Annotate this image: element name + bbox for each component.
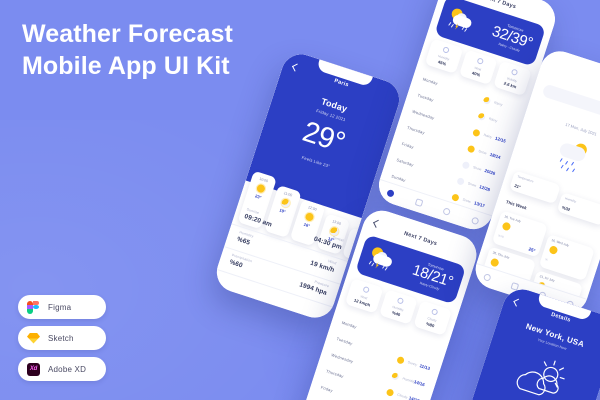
day-status: Sunny (407, 360, 417, 367)
day-value: 20/26 (484, 168, 496, 176)
day-value: 11/13 (419, 363, 431, 371)
phone-notch (574, 56, 600, 83)
sun-icon (501, 221, 511, 231)
sun-icon (467, 144, 476, 153)
sun-icon (451, 193, 460, 202)
day-status: Snow (473, 165, 482, 171)
grid-tab-icon[interactable] (414, 198, 423, 207)
sun-icon (490, 257, 500, 267)
stat-tile-cloudy[interactable]: Cloudy %80 (413, 300, 452, 335)
stat-tile-humidity[interactable]: Humidity 45% (425, 38, 464, 73)
back-arrow-icon[interactable] (292, 62, 301, 71)
sun-behind-cloud-outline-icon (505, 347, 576, 400)
sun-icon (396, 355, 405, 364)
cloud-icon (431, 308, 439, 316)
badge-adobe-xd[interactable]: Xd Adobe XD (18, 357, 106, 381)
page-title: Weather Forecast Mobile App UI Kit (22, 18, 292, 82)
cloudy-icon (456, 177, 465, 186)
stat-tile-wind[interactable]: Wind 12 kmph (345, 278, 384, 313)
day-name: Friday (401, 141, 414, 150)
day-card-humidity: % (545, 257, 549, 262)
format-badges: Figma Sketch Xd Adobe XD (18, 295, 106, 388)
cloudy-icon (462, 160, 471, 169)
day-name: Thursday (406, 125, 425, 135)
stat-label: Temperature (517, 174, 534, 183)
daily-stat-humidity[interactable]: Humidity %32 (557, 192, 600, 226)
hourly-temp: 23° (246, 191, 270, 203)
day-name: Tuesday (417, 93, 434, 103)
figma-icon (27, 301, 40, 314)
sun-icon (386, 388, 395, 397)
partly-cloudy-icon (477, 112, 486, 121)
back-arrow-icon[interactable] (373, 218, 382, 227)
badge-sketch[interactable]: Sketch (18, 326, 106, 350)
day-name: Friday (320, 385, 333, 394)
sun-icon (256, 183, 266, 193)
day-value: 14/16 (413, 379, 425, 387)
daily-stat-temperature[interactable]: Temperature 21° (509, 170, 561, 204)
day-value: 13/17 (473, 200, 485, 208)
hourly-time: 12:00 (300, 202, 324, 213)
stat-label: Humidity (564, 196, 576, 203)
badge-sketch-label: Sketch (48, 334, 74, 343)
day-name: Monday (422, 76, 438, 86)
sun-icon (472, 128, 481, 137)
sun-cloud-rain-icon (365, 244, 397, 275)
day-value: 14/18 (408, 395, 420, 400)
day-status: Snow (467, 181, 476, 187)
day-name: Wednesday (412, 109, 435, 121)
partly-cloudy-icon (483, 96, 492, 105)
headline-line-1: Weather Forecast (22, 18, 292, 50)
day-name: Wednesday (331, 352, 354, 364)
wind-icon (476, 57, 484, 65)
day-status: Snow (478, 149, 487, 155)
daily-week-title: This Week (505, 199, 527, 210)
day-value: 12/28 (479, 184, 491, 192)
stat-tile-humidity[interactable]: Humidity %40 (379, 289, 418, 324)
stat-tile-visibility[interactable]: Visibility 2.6 km (493, 61, 532, 96)
badge-figma-label: Figma (48, 303, 71, 312)
day-status: Rainy (483, 132, 492, 138)
back-arrow-icon[interactable] (513, 297, 522, 306)
day-value: 10/12 (463, 233, 475, 235)
day-value: 12/15 (494, 136, 506, 144)
wind-icon (363, 286, 371, 294)
eye-icon (511, 68, 519, 76)
badge-adobe-xd-label: Adobe XD (48, 365, 86, 374)
location-tab-icon[interactable] (483, 273, 492, 282)
adobe-xd-icon: Xd (27, 363, 40, 376)
sun-icon (305, 211, 315, 221)
profile-tab-icon[interactable] (471, 216, 480, 225)
day-status: Cloudy (397, 392, 408, 399)
stat-tile-wind[interactable]: Wind 40% (459, 49, 498, 84)
day-name: Thursday (325, 368, 344, 378)
headline-line-2: Mobile App UI Kit (22, 50, 292, 82)
stat-value: %32 (561, 205, 571, 212)
day-name: Sunday (391, 173, 407, 182)
day-name: Saturday (396, 157, 414, 167)
droplet-icon (442, 46, 450, 54)
hourly-time: 13:00 (325, 217, 349, 228)
sun-icon (548, 245, 558, 255)
day-name: Tuesday (336, 336, 353, 346)
home-tab-icon[interactable] (386, 189, 395, 198)
droplet-icon (397, 297, 405, 305)
day-status: Rainy (488, 116, 497, 122)
day-status: Rainy (494, 100, 503, 106)
badge-figma[interactable]: Figma (18, 295, 106, 319)
stat-value: 21° (514, 183, 522, 190)
sketch-icon (27, 332, 40, 345)
sun-rain-cloud-icon (547, 136, 596, 183)
hourly-time: 11:00 (276, 188, 300, 199)
day-name: Monday (341, 320, 357, 330)
hourly-time: 10:00 (252, 174, 276, 185)
detail-value: 09:20 am (243, 213, 272, 229)
partly-cloudy-icon (391, 372, 400, 381)
sun-cloud-rain-icon (445, 6, 477, 37)
search-tab-icon[interactable] (442, 207, 451, 216)
day-card-humidity: %78 (498, 233, 505, 239)
partly-cloudy-icon (280, 197, 290, 207)
day-card-temp: 25° (528, 246, 536, 253)
day-value: 18/14 (489, 152, 501, 160)
day-status: Snow (462, 197, 471, 203)
